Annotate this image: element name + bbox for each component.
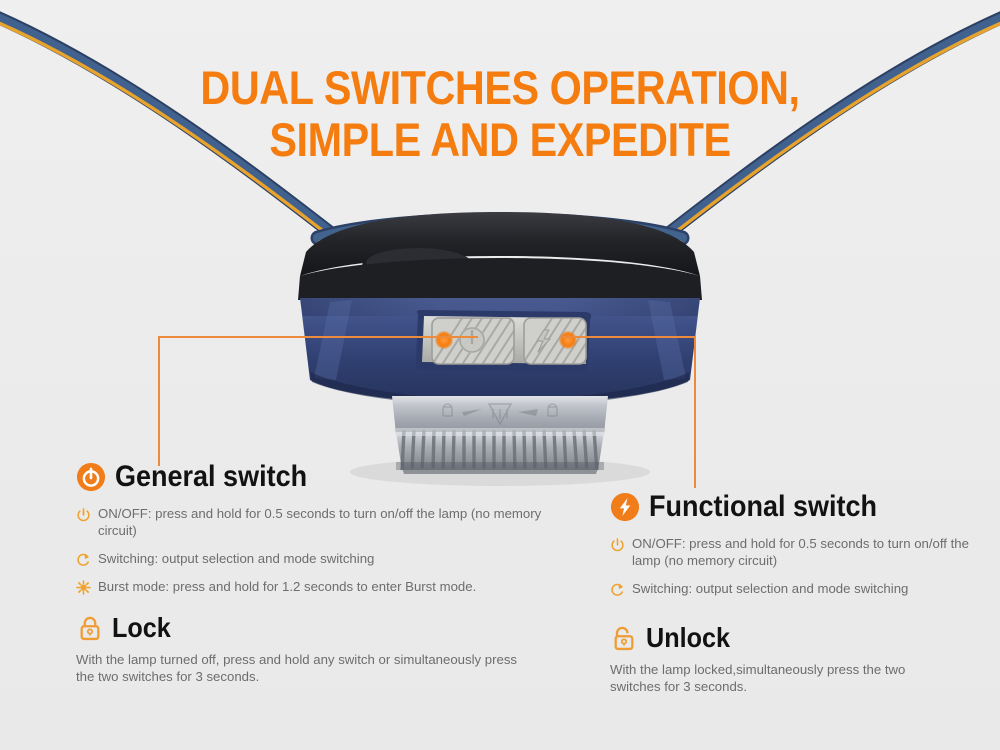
title-line-1: DUAL SWITCHES OPERATION, xyxy=(60,64,940,111)
title-line-2: SIMPLE AND EXPEDITE xyxy=(60,116,940,163)
general-switch-bullets: ON/OFF: press and hold for 0.5 seconds t… xyxy=(76,505,546,595)
functional-switch-marker-dot xyxy=(559,331,577,349)
connector-line-right-vertical xyxy=(694,336,696,488)
lock-section: Lock With the lamp turned off, press and… xyxy=(76,614,546,685)
unlock-title: Unlock xyxy=(646,624,730,652)
lightning-bolt-icon xyxy=(610,492,640,522)
power-icon xyxy=(76,462,106,492)
bullet-item: ON/OFF: press and hold for 0.5 seconds t… xyxy=(610,535,970,569)
functional-switch-title: Functional switch xyxy=(649,492,877,522)
connector-line-left-vertical xyxy=(158,336,160,466)
lock-heading: Lock xyxy=(76,614,546,642)
bullet-text: Switching: output selection and mode swi… xyxy=(98,550,374,567)
power-icon xyxy=(610,537,625,552)
bullet-item: Burst mode: press and hold for 1.2 secon… xyxy=(76,578,546,595)
general-switch-heading: General switch xyxy=(76,462,546,492)
connector-line-right-horizontal xyxy=(562,336,696,338)
switch-cycle-icon xyxy=(76,552,91,567)
switch-cycle-icon xyxy=(610,582,625,597)
padlock-open-icon xyxy=(610,624,638,652)
functional-switch-bullets: ON/OFF: press and hold for 0.5 seconds t… xyxy=(610,535,970,597)
unlock-description: With the lamp locked,simultaneously pres… xyxy=(610,661,940,695)
bullet-text: ON/OFF: press and hold for 0.5 seconds t… xyxy=(98,505,546,539)
bullet-item: Switching: output selection and mode swi… xyxy=(610,580,970,597)
general-switch-marker-dot xyxy=(435,331,453,349)
bullet-text: Burst mode: press and hold for 1.2 secon… xyxy=(98,578,476,595)
burst-sun-icon xyxy=(76,580,91,595)
lock-description: With the lamp turned off, press and hold… xyxy=(76,651,526,685)
bullet-text: ON/OFF: press and hold for 0.5 seconds t… xyxy=(632,535,970,569)
bullet-text: Switching: output selection and mode swi… xyxy=(632,580,908,597)
page-title: DUAL SWITCHES OPERATION, SIMPLE AND EXPE… xyxy=(0,64,1000,163)
bullet-item: ON/OFF: press and hold for 0.5 seconds t… xyxy=(76,505,546,539)
infographic-page: DUAL SWITCHES OPERATION, SIMPLE AND EXPE… xyxy=(0,0,1000,750)
connector-line-left-horizontal xyxy=(158,336,478,338)
unlock-heading: Unlock xyxy=(610,624,970,652)
lock-title: Lock xyxy=(112,614,171,642)
lamp-upper-housing xyxy=(298,258,702,300)
power-icon xyxy=(76,507,91,522)
functional-switch-section: Functional switch ON/OFF: press and hold… xyxy=(610,492,970,695)
padlock-closed-icon xyxy=(76,614,104,642)
general-switch-title: General switch xyxy=(115,462,307,492)
bullet-item: Switching: output selection and mode swi… xyxy=(76,550,546,567)
general-switch-section: General switch ON/OFF: press and hold fo… xyxy=(76,462,546,685)
functional-switch-heading: Functional switch xyxy=(610,492,970,522)
unlock-section: Unlock With the lamp locked,simultaneous… xyxy=(610,624,970,695)
